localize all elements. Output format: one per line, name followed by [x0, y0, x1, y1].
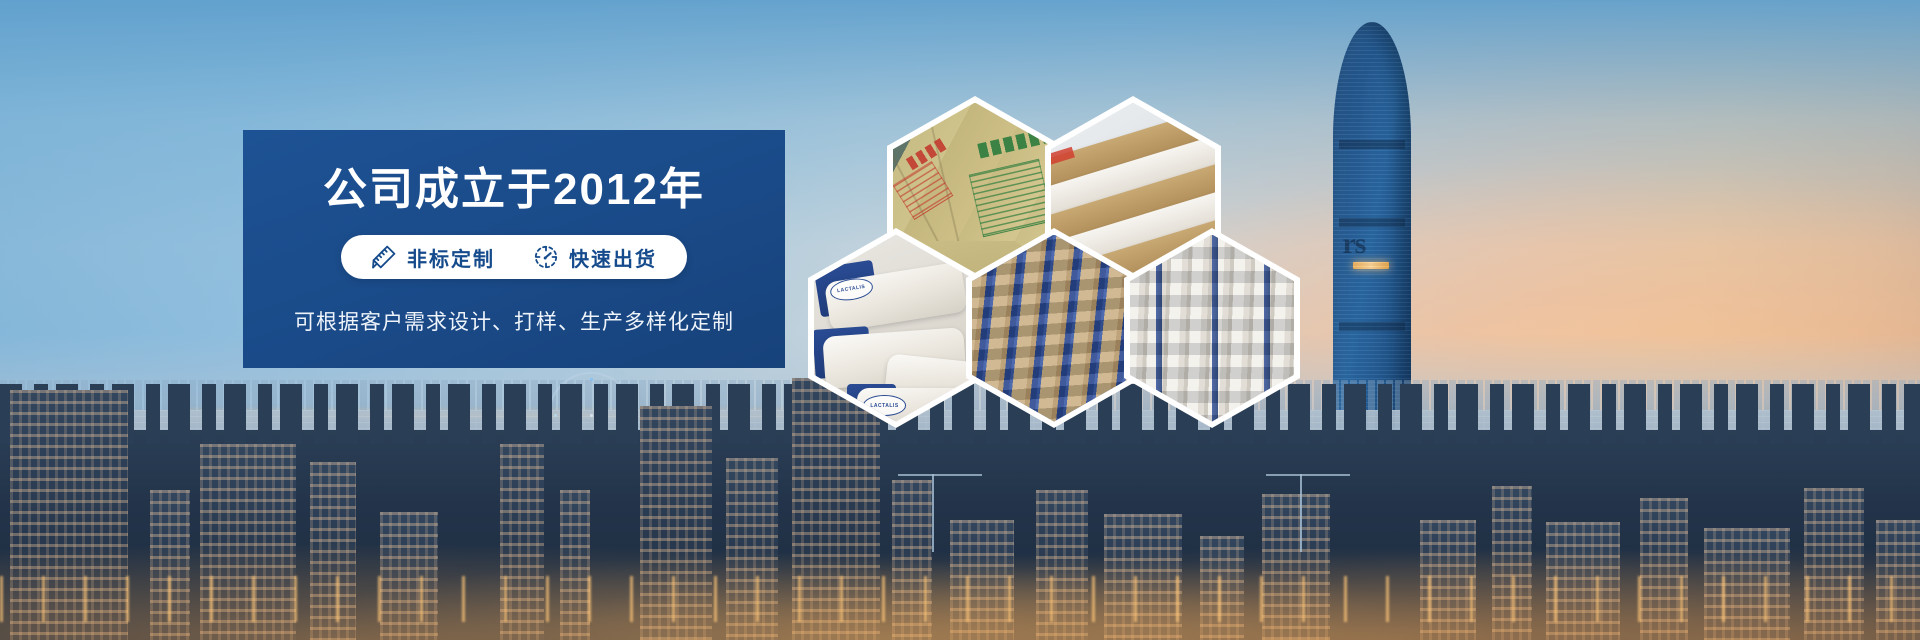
promo-panel: 公司成立于2012年 非标定制	[243, 130, 785, 368]
tower-logo-mark: rs	[1342, 227, 1365, 261]
hero-banner: rs	[0, 0, 1920, 640]
photo-warehouse-rack	[1130, 235, 1294, 422]
product-hexagon-gallery: LACTALIS LACTALIS	[795, 88, 1295, 428]
speedometer-icon	[533, 244, 559, 270]
badge-label: 非标定制	[407, 243, 495, 272]
page-title: 公司成立于2012年	[243, 168, 785, 212]
photo-pallet-stack	[972, 235, 1136, 422]
street-lamps	[0, 576, 1920, 622]
photo-lactalis-sacks: LACTALIS LACTALIS	[814, 235, 978, 422]
badge-fast-shipping[interactable]: 快速出货	[533, 243, 657, 272]
badge-label: 快速出货	[569, 243, 657, 272]
badge-custom-manufacturing[interactable]: 非标定制	[371, 243, 495, 272]
tower-lit-strip	[1353, 262, 1389, 269]
feature-badge-group: 非标定制 快速出货	[341, 235, 687, 279]
panel-subtitle: 可根据客户需求设计、打样、生产多样化定制	[243, 306, 785, 336]
ruler-pen-icon	[371, 244, 397, 270]
